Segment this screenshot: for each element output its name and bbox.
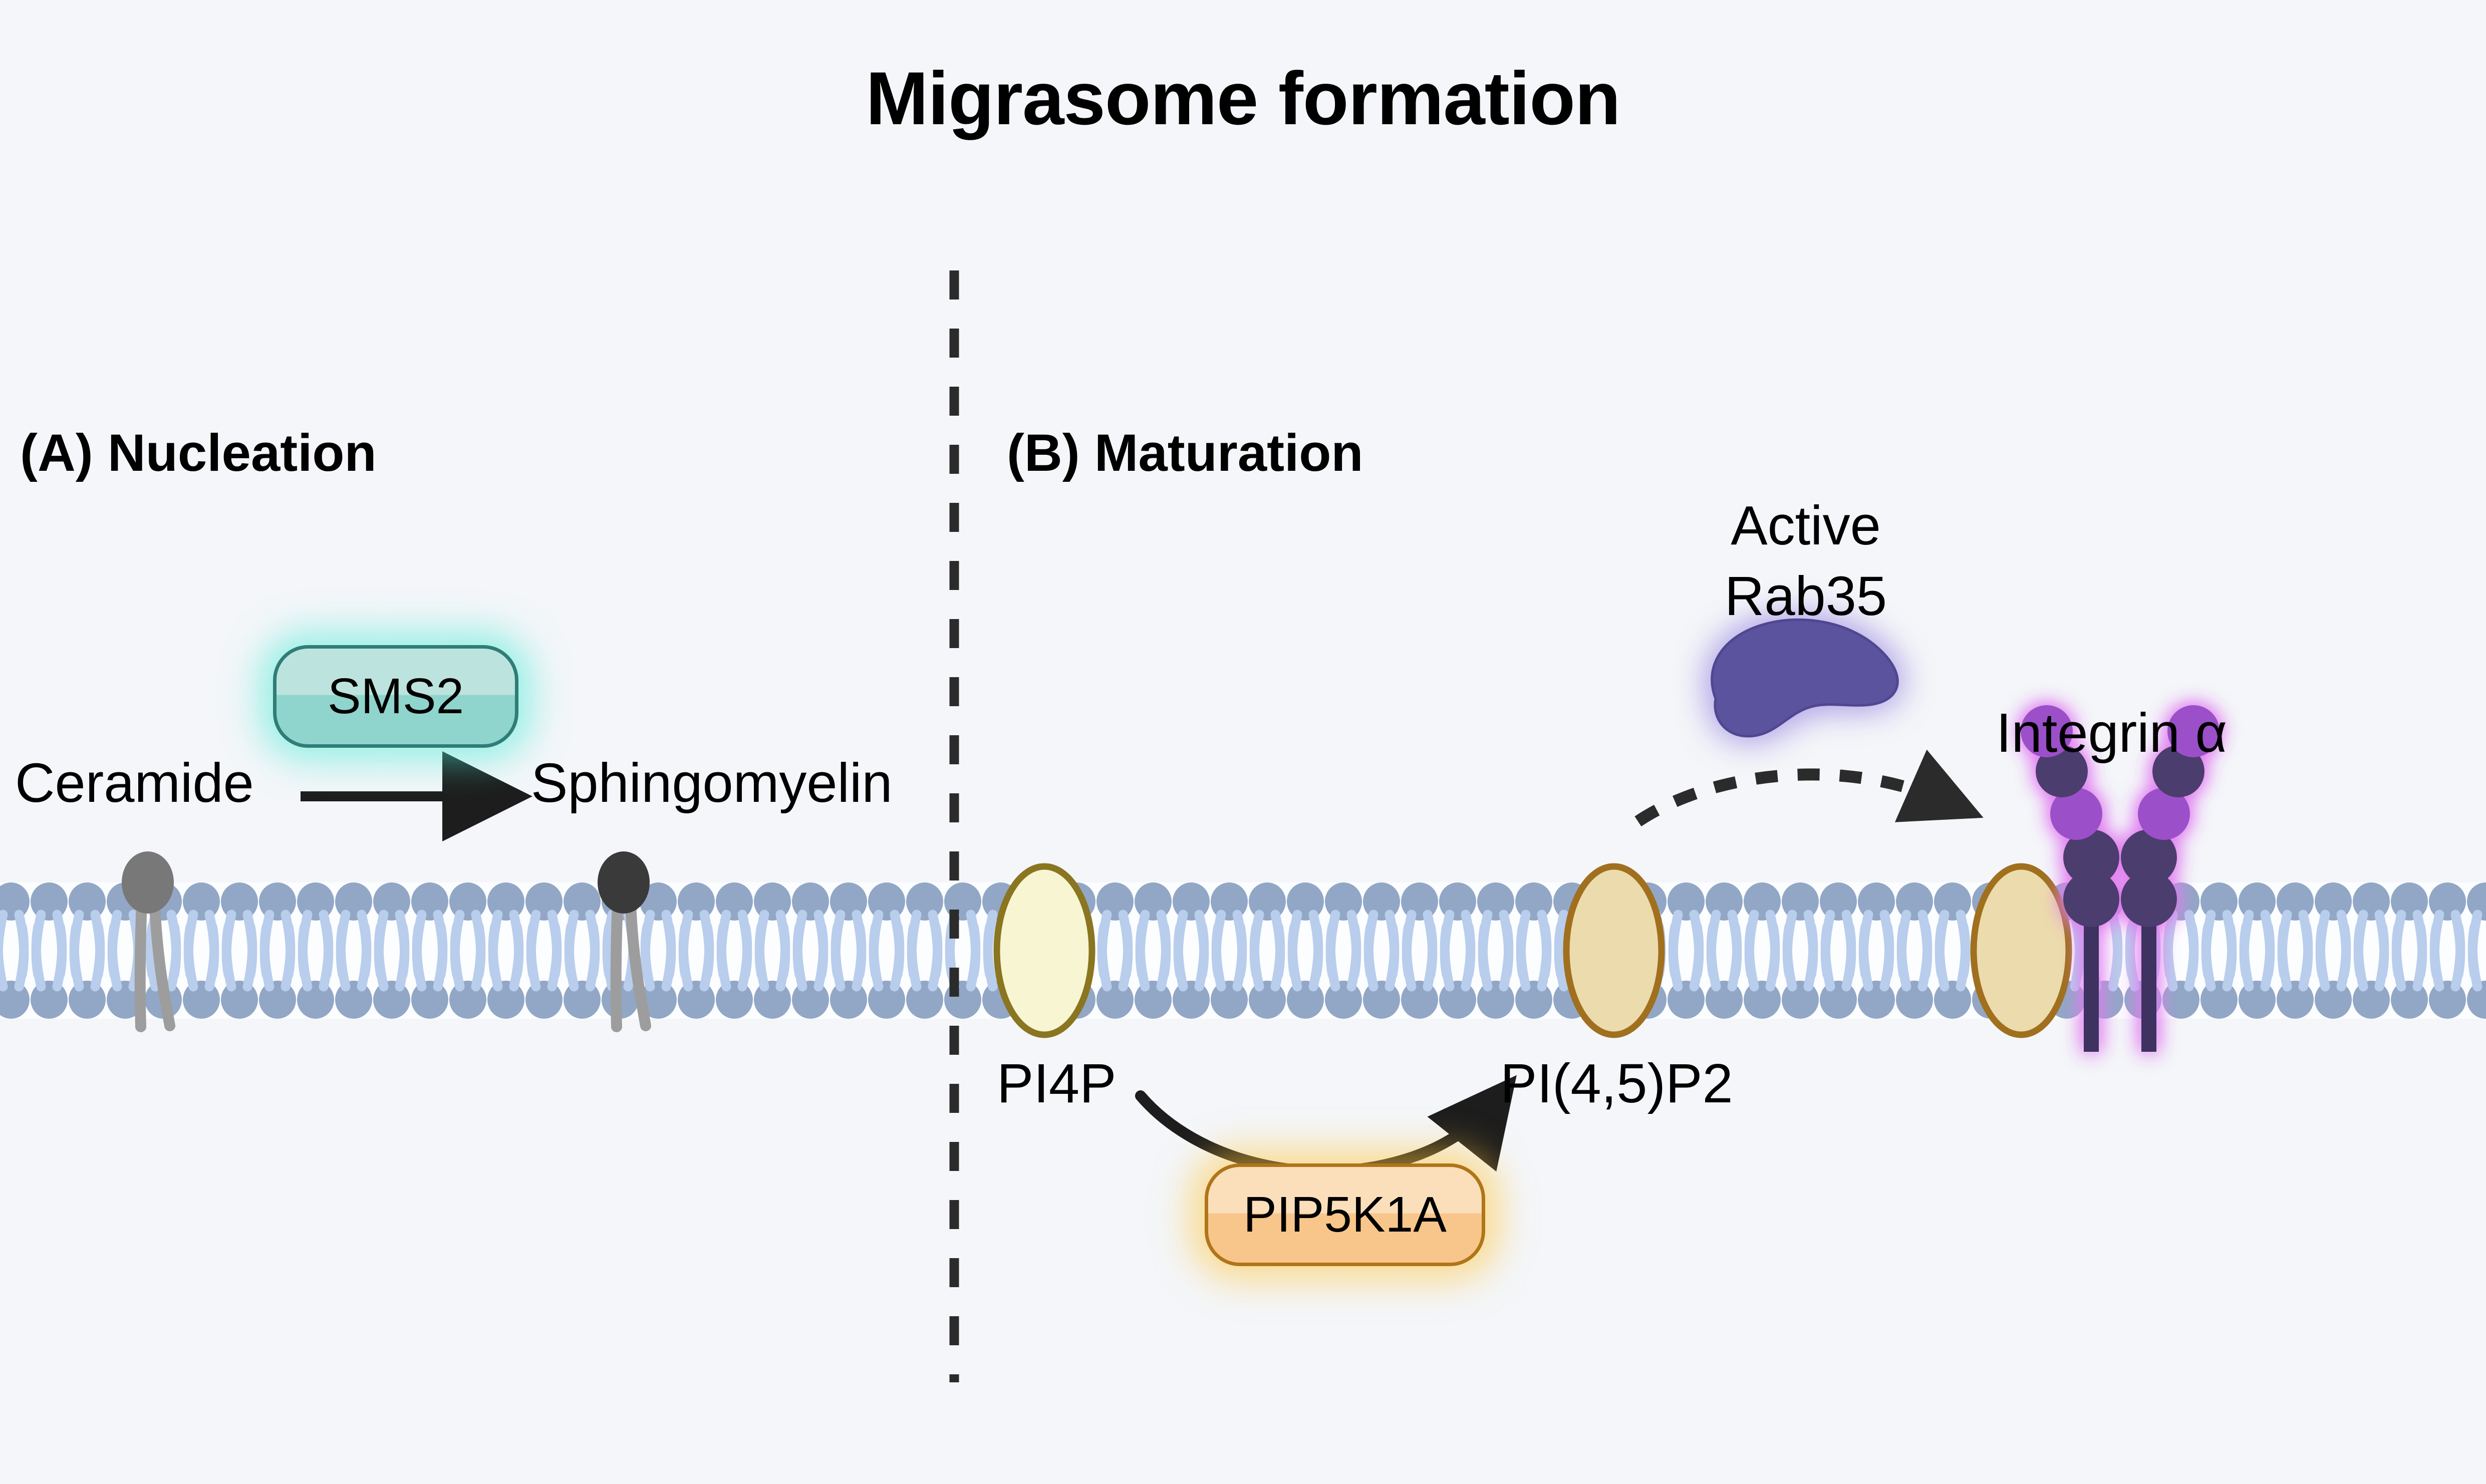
label-ceramide: Ceramide bbox=[15, 751, 254, 815]
label-integrin-alpha: Integrin α bbox=[1996, 701, 2227, 765]
label-active-rab35: Active Rab35 bbox=[1701, 491, 1911, 632]
label-sphingomyelin: Sphingomyelin bbox=[531, 751, 893, 815]
label-pi4p: PI4P bbox=[997, 1052, 1116, 1115]
protein-integrin-adjacent bbox=[1974, 866, 2069, 1035]
label-active-rab35-line1: Active bbox=[1701, 491, 1911, 561]
section-label-maturation: (B) Maturation bbox=[1007, 423, 1363, 483]
figure-title: Migrasome formation bbox=[0, 55, 2486, 142]
figure-canvas: Migrasome formation (A) Nucleation (B) M… bbox=[0, 0, 2486, 1484]
protein-pi4p bbox=[997, 866, 1092, 1035]
section-label-nucleation: (A) Nucleation bbox=[20, 423, 377, 483]
label-pip2: PI(4,5)P2 bbox=[1500, 1052, 1733, 1115]
pi4p-to-pip2-arrow bbox=[1141, 1096, 1500, 1171]
rab35-protein bbox=[1712, 620, 1898, 736]
enzyme-badge-sms2[interactable]: SMS2 bbox=[273, 645, 518, 748]
protein-pip2 bbox=[1566, 866, 1662, 1035]
label-active-rab35-line2: Rab35 bbox=[1701, 561, 1911, 632]
enzyme-badge-pip5k1a[interactable]: PIP5K1A bbox=[1205, 1163, 1485, 1266]
rab35-to-integrin-arrow bbox=[1638, 774, 1946, 821]
